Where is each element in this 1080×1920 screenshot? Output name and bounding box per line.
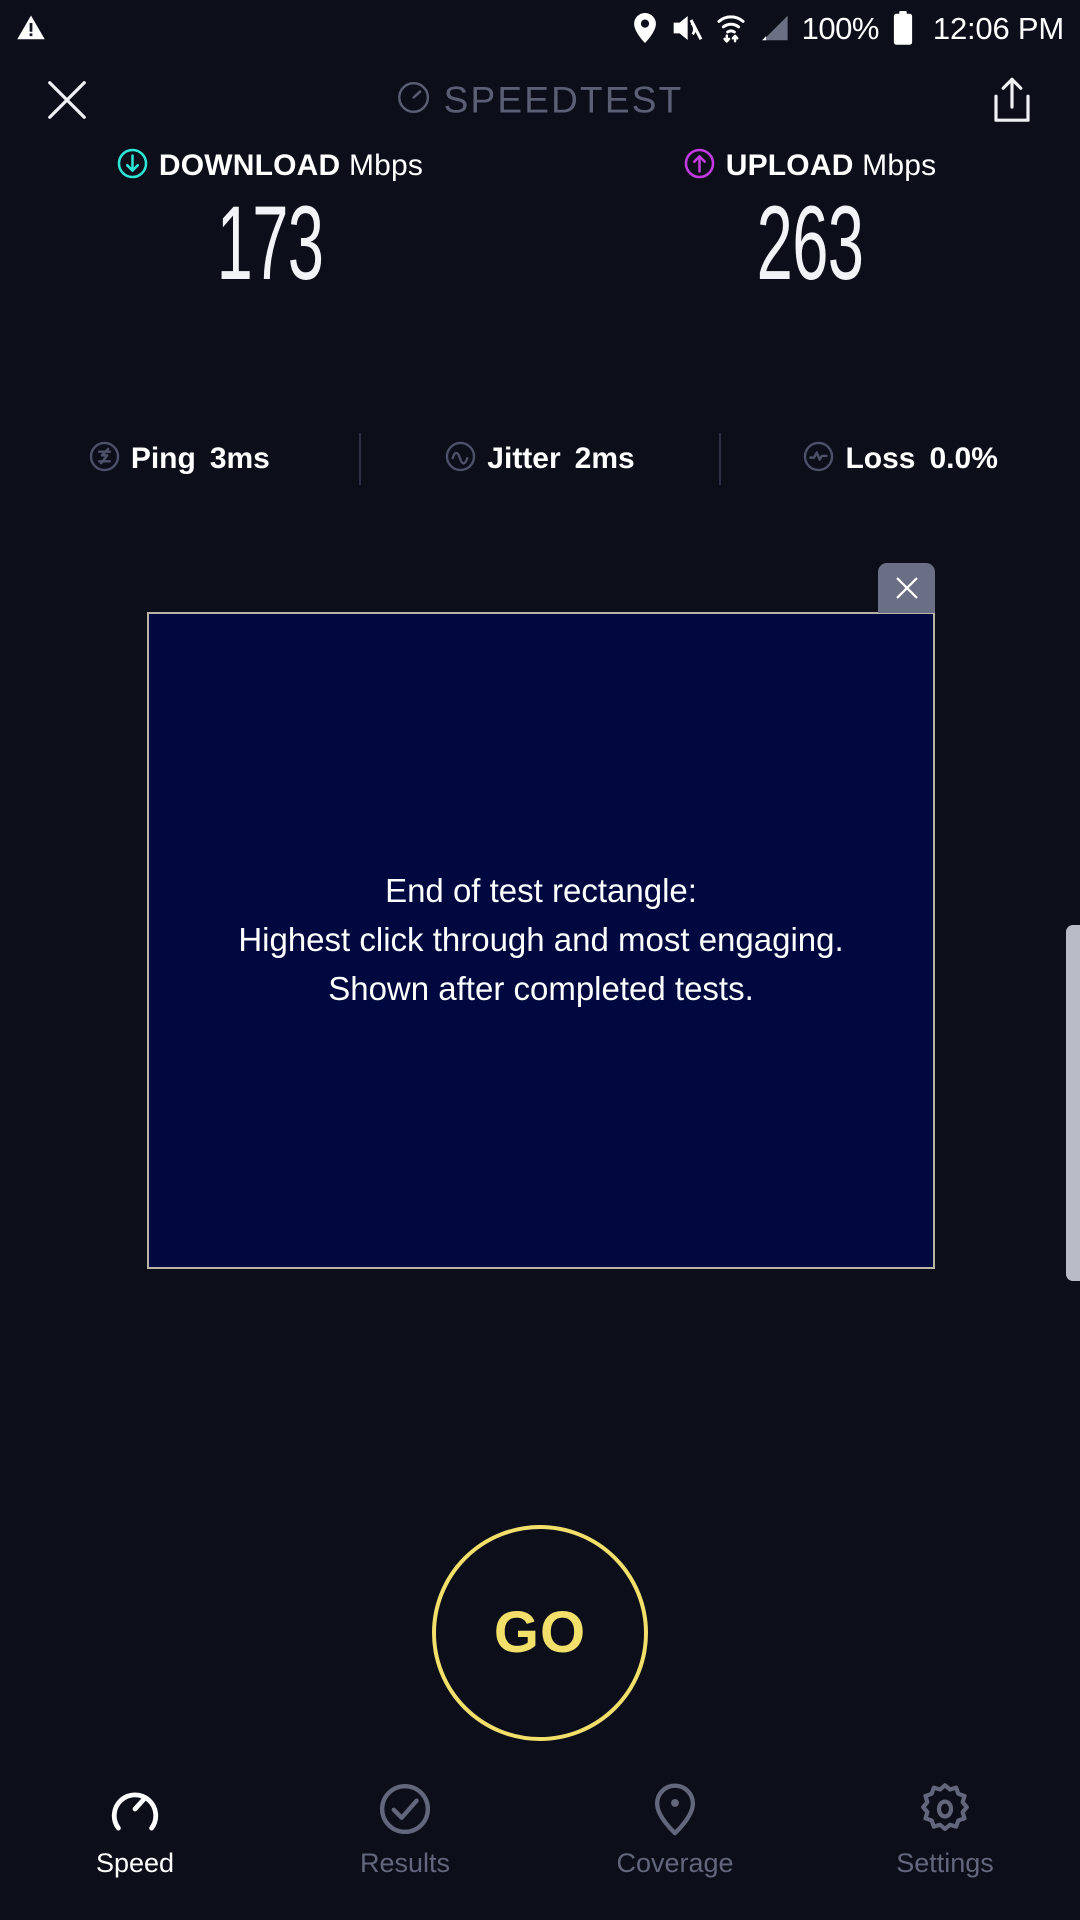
download-value: 173 bbox=[103, 191, 438, 296]
close-icon bbox=[893, 574, 921, 602]
go-button-label: GO bbox=[494, 1604, 586, 1662]
nav-label-coverage: Coverage bbox=[616, 1850, 733, 1877]
ad-text: End of test rectangle: Highest click thr… bbox=[218, 867, 863, 1013]
close-icon bbox=[44, 77, 90, 123]
warning-triangle-icon bbox=[16, 13, 46, 43]
cellular-signal-icon bbox=[759, 14, 789, 42]
ping-icon bbox=[89, 441, 120, 477]
close-button[interactable] bbox=[38, 71, 96, 129]
upload-label: UPLOAD Mbps bbox=[726, 151, 937, 181]
gear-icon bbox=[918, 1778, 972, 1840]
check-circle-icon bbox=[378, 1778, 432, 1840]
nav-label-settings: Settings bbox=[896, 1850, 994, 1877]
wifi-icon bbox=[716, 12, 746, 44]
ad-close-button[interactable] bbox=[878, 563, 935, 613]
status-bar: 100% 12:06 PM bbox=[0, 0, 1080, 56]
ad-banner[interactable]: End of test rectangle: Highest click thr… bbox=[147, 612, 935, 1269]
status-bar-right: 100% 12:06 PM bbox=[632, 11, 1064, 45]
nav-item-speed[interactable]: Speed bbox=[0, 1778, 270, 1877]
speedometer-icon bbox=[108, 1778, 162, 1840]
battery-full-icon bbox=[892, 11, 914, 45]
results-panel: DOWNLOAD Mbps 173 UPLOAD Mbps bbox=[0, 145, 1080, 295]
speedometer-icon bbox=[397, 81, 431, 120]
loss-label: Loss bbox=[845, 444, 915, 474]
loss-icon bbox=[803, 441, 834, 477]
brand-label: SPEEDTEST bbox=[444, 82, 684, 119]
speeds-row: DOWNLOAD Mbps 173 UPLOAD Mbps bbox=[0, 145, 1080, 295]
share-button[interactable] bbox=[986, 71, 1038, 129]
nav-item-coverage[interactable]: Coverage bbox=[540, 1778, 810, 1877]
clock-label: 12:06 PM bbox=[933, 13, 1064, 44]
metric-ping: Ping 3ms bbox=[0, 427, 359, 491]
battery-percent-label: 100% bbox=[802, 13, 879, 44]
upload-header: UPLOAD Mbps bbox=[540, 145, 1080, 187]
nav-item-settings[interactable]: Settings bbox=[810, 1778, 1080, 1877]
ping-label: Ping bbox=[131, 444, 196, 474]
jitter-value: 2ms bbox=[575, 444, 635, 474]
nav-label-speed: Speed bbox=[96, 1850, 174, 1877]
upload-value: 263 bbox=[643, 191, 978, 296]
map-pin-icon bbox=[648, 1778, 702, 1840]
arrow-up-circle-icon bbox=[684, 148, 715, 184]
brand: SPEEDTEST bbox=[397, 81, 684, 120]
metric-loss: Loss 0.0% bbox=[721, 427, 1080, 491]
speedtest-app-screen: 100% 12:06 PM SPEEDTEST bbox=[0, 0, 1080, 1920]
app-header: SPEEDTEST bbox=[0, 60, 1080, 140]
location-pin-icon bbox=[632, 13, 658, 43]
arrow-down-circle-icon bbox=[117, 148, 148, 184]
jitter-label: Jitter bbox=[487, 444, 560, 474]
ping-value: 3ms bbox=[210, 444, 270, 474]
download-result: DOWNLOAD Mbps 173 bbox=[0, 145, 540, 296]
nav-item-results[interactable]: Results bbox=[270, 1778, 540, 1877]
status-bar-left bbox=[16, 13, 46, 43]
advertisement: End of test rectangle: Highest click thr… bbox=[147, 563, 935, 1269]
loss-value: 0.0% bbox=[930, 444, 998, 474]
go-button[interactable]: GO bbox=[432, 1525, 648, 1741]
volume-muted-icon bbox=[671, 13, 703, 43]
nav-label-results: Results bbox=[360, 1850, 450, 1877]
metrics-row: Ping 3ms Jitter 2ms bbox=[0, 427, 1080, 491]
share-icon bbox=[992, 77, 1032, 123]
download-label: DOWNLOAD Mbps bbox=[159, 151, 423, 181]
vertical-scrollbar[interactable] bbox=[1066, 925, 1080, 1281]
metric-jitter: Jitter 2ms bbox=[361, 427, 720, 491]
bottom-navigation: Speed Results Coverage bbox=[0, 1760, 1080, 1920]
download-header: DOWNLOAD Mbps bbox=[0, 145, 540, 187]
jitter-icon bbox=[445, 441, 476, 477]
upload-result: UPLOAD Mbps 263 bbox=[540, 145, 1080, 296]
